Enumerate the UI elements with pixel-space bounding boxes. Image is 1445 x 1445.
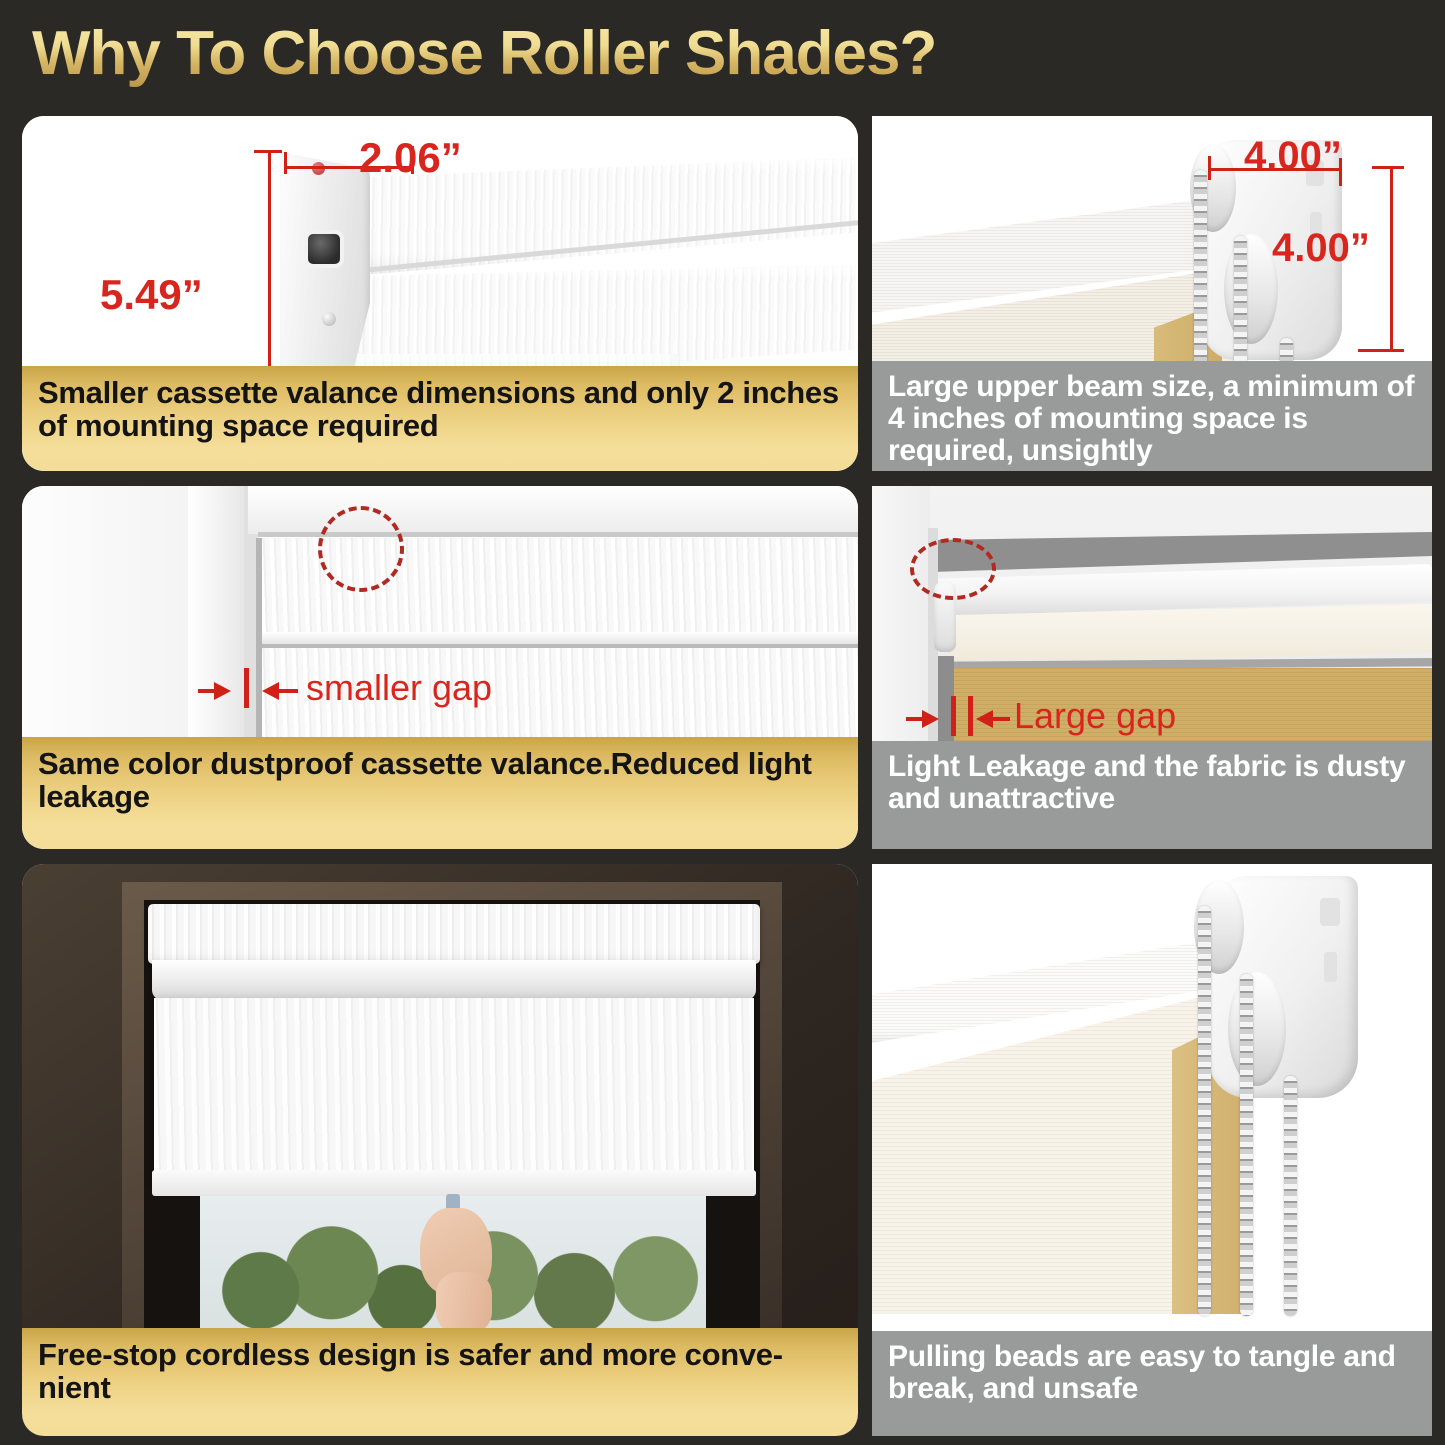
- panel-row2-right: Large gap Light Leakage and the fabric i…: [872, 486, 1432, 849]
- caption-row1-right: Large upper beam size, a minimum of 4 in…: [872, 361, 1432, 471]
- bead-chain: [1198, 906, 1211, 1316]
- bead-chain: [1240, 974, 1253, 1316]
- beam-height-label: 4.00”: [1272, 226, 1370, 271]
- gap-marker: [951, 696, 956, 736]
- caption-row1-left: Smaller cassette valance dimensions and …: [22, 366, 858, 471]
- panel-row1-left: 2.06” 5.49” Smaller cassette valance dim…: [22, 116, 858, 471]
- panel-row1-right: 4.00” 4.00” Large upper beam size, a min…: [872, 116, 1432, 471]
- gap-callout-label: Large gap: [1014, 695, 1176, 737]
- width-dimension-label: 2.06”: [359, 134, 462, 182]
- cord-hole-icon: [308, 234, 340, 264]
- gap-arrow-right: [976, 710, 993, 728]
- bead-chain: [1284, 1076, 1297, 1316]
- caption-row2-right: Light Leakage and the fabric is dusty an…: [872, 741, 1432, 849]
- shade-fabric: [154, 998, 754, 1178]
- beam-height-line: [1390, 166, 1393, 352]
- caption-row3-left: Free-stop cordless design is safer and m…: [22, 1328, 858, 1436]
- height-dimension-label: 5.49”: [100, 271, 203, 319]
- gap-highlight-circle: [910, 538, 996, 600]
- gap-marker: [244, 668, 249, 708]
- caption-row3-right: Pulling beads are easy to tangle and bre…: [872, 1331, 1432, 1436]
- page-title: Why To Choose Roller Shades?: [32, 18, 936, 89]
- comparison-grid: 2.06” 5.49” Smaller cassette valance dim…: [0, 108, 1445, 1445]
- gap-arrow-right: [262, 682, 279, 700]
- cassette-valance: [148, 904, 760, 964]
- gap-highlight-circle: [318, 506, 404, 592]
- title-bar: Why To Choose Roller Shades?: [0, 0, 1445, 108]
- gap-marker: [968, 696, 973, 736]
- panel-row2-left: smaller gap Same color dustproof cassett…: [22, 486, 858, 849]
- caption-row2-left: Same color dustproof cassette valance.Re…: [22, 737, 858, 849]
- panel-row3-left: Free-stop cordless design is safer and m…: [22, 864, 858, 1436]
- panel-row3-right: Pulling beads are easy to tangle and bre…: [872, 864, 1432, 1436]
- gap-callout-label: smaller gap: [306, 667, 492, 709]
- beam-width-label: 4.00”: [1244, 134, 1342, 179]
- forearm: [436, 1272, 492, 1334]
